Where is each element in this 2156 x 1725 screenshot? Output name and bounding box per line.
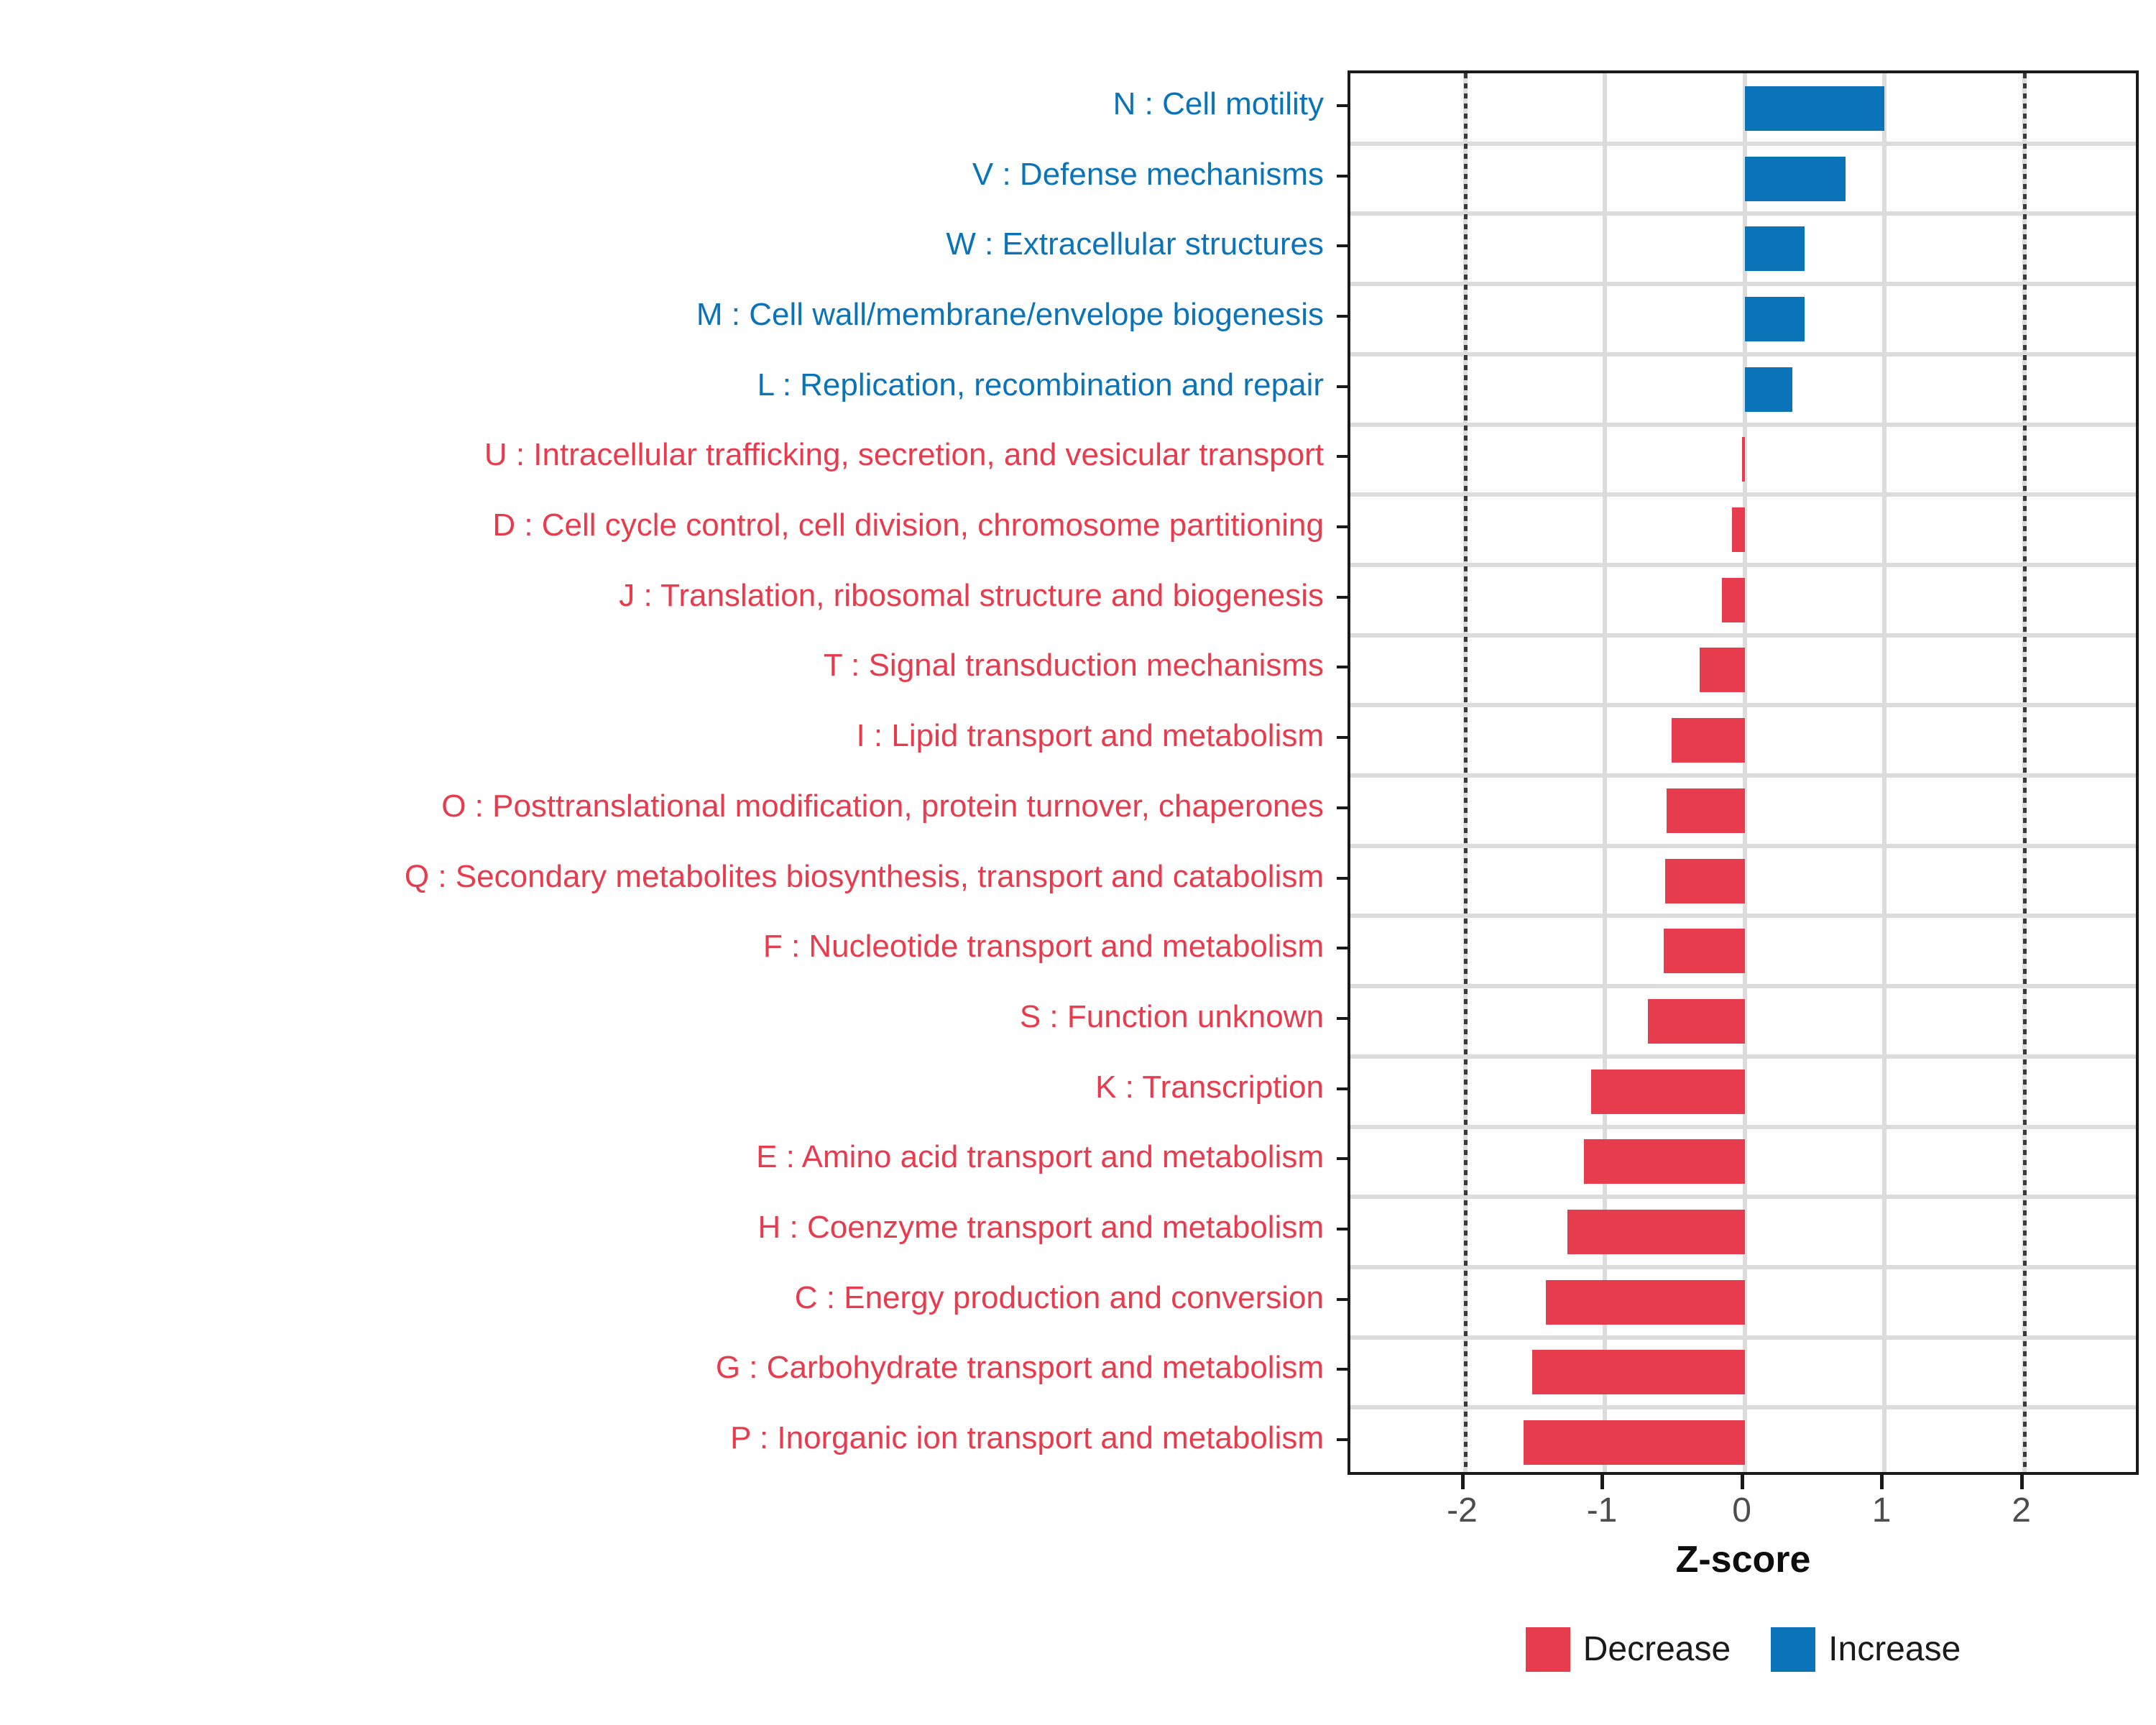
vertical-gridline xyxy=(1882,73,1886,1472)
reference-line xyxy=(2023,73,2027,1472)
bar[interactable] xyxy=(1667,788,1745,833)
plot-panel xyxy=(1347,70,2139,1475)
y-axis-label: S : Function unknown xyxy=(0,1001,1337,1033)
y-axis-label: C : Energy production and conversion xyxy=(0,1282,1337,1314)
y-axis-label: H : Coenzyme transport and metabolism xyxy=(0,1212,1337,1243)
y-axis-label: Q : Secondary metabolites biosynthesis, … xyxy=(0,861,1337,893)
x-axis-tick xyxy=(1741,1475,1744,1489)
y-axis-tick xyxy=(1337,244,1347,247)
bar[interactable] xyxy=(1532,1350,1745,1394)
bar[interactable] xyxy=(1591,1069,1745,1114)
y-axis-tick xyxy=(1337,877,1347,880)
y-axis-label: T : Signal transduction mechanisms xyxy=(0,650,1337,681)
bar[interactable] xyxy=(1524,1420,1744,1465)
legend-swatch-inc xyxy=(1771,1627,1815,1672)
bar[interactable] xyxy=(1745,297,1805,341)
y-axis-tick xyxy=(1337,596,1347,599)
x-axis-tick xyxy=(2020,1475,2024,1489)
bar[interactable] xyxy=(1665,859,1745,903)
x-axis-title: Z-score xyxy=(1347,1538,2139,1581)
bar[interactable] xyxy=(1745,86,1885,131)
x-axis-tick xyxy=(1880,1475,1884,1489)
y-axis-label: O : Posttranslational modification, prot… xyxy=(0,791,1337,822)
y-axis-label: J : Translation, ribosomal structure and… xyxy=(0,580,1337,612)
y-axis-tick xyxy=(1337,806,1347,809)
bar[interactable] xyxy=(1745,226,1805,271)
y-axis-tick xyxy=(1337,315,1347,318)
chart-legend: DecreaseIncrease xyxy=(1347,1621,2139,1678)
y-axis-label: M : Cell wall/membrane/envelope biogenes… xyxy=(0,299,1337,331)
y-axis-tick xyxy=(1337,1157,1347,1160)
y-axis-tick xyxy=(1337,1298,1347,1301)
x-axis-tick-label: 2 xyxy=(1978,1491,2065,1531)
y-axis-tick xyxy=(1337,385,1347,388)
bar[interactable] xyxy=(1732,507,1745,552)
y-axis-tick xyxy=(1337,666,1347,668)
y-axis-tick xyxy=(1337,1017,1347,1020)
y-axis-label: I : Lipid transport and metabolism xyxy=(0,720,1337,752)
y-axis-label: G : Carbohydrate transport and metabolis… xyxy=(0,1352,1337,1384)
bar[interactable] xyxy=(1584,1139,1745,1184)
y-axis-label: F : Nucleotide transport and metabolism xyxy=(0,931,1337,962)
bar[interactable] xyxy=(1664,929,1745,973)
y-axis-label: L : Replication, recombination and repai… xyxy=(0,369,1337,401)
y-axis-tick xyxy=(1337,736,1347,739)
legend-item-dec[interactable]: Decrease xyxy=(1526,1627,1731,1672)
bar[interactable] xyxy=(1742,437,1745,482)
y-axis-label: W : Extracellular structures xyxy=(0,229,1337,260)
bar[interactable] xyxy=(1672,718,1744,763)
x-axis-tick-label: 0 xyxy=(1699,1491,1785,1531)
x-axis-tick xyxy=(1600,1475,1604,1489)
vertical-gridline xyxy=(1743,73,1747,1472)
legend-label: Increase xyxy=(1828,1631,1961,1668)
bar[interactable] xyxy=(1567,1210,1745,1254)
y-axis-label: N : Cell motility xyxy=(0,88,1337,120)
bar[interactable] xyxy=(1745,157,1846,201)
bar[interactable] xyxy=(1546,1280,1744,1325)
y-axis-label: P : Inorganic ion transport and metaboli… xyxy=(0,1422,1337,1454)
y-axis-tick xyxy=(1337,1228,1347,1230)
y-axis-tick xyxy=(1337,1438,1347,1441)
y-axis-tick xyxy=(1337,1368,1347,1371)
y-axis-label: V : Defense mechanisms xyxy=(0,159,1337,190)
x-axis-tick-label: -2 xyxy=(1419,1491,1506,1531)
y-axis-label: U : Intracellular trafficking, secretion… xyxy=(0,439,1337,471)
y-axis-label: D : Cell cycle control, cell division, c… xyxy=(0,510,1337,541)
legend-swatch-dec xyxy=(1526,1627,1570,1672)
y-axis-tick xyxy=(1337,947,1347,949)
legend-label: Decrease xyxy=(1583,1631,1731,1668)
y-axis-category-labels: N : Cell motilityV : Defense mechanismsW… xyxy=(0,70,1337,1475)
bar[interactable] xyxy=(1745,367,1792,412)
y-axis-tick xyxy=(1337,455,1347,458)
x-axis-tick xyxy=(1461,1475,1465,1489)
reference-line xyxy=(1464,73,1468,1472)
y-axis-tick xyxy=(1337,175,1347,178)
y-axis-tick xyxy=(1337,104,1347,107)
x-axis-tick-label: 1 xyxy=(1838,1491,1925,1531)
bar[interactable] xyxy=(1722,578,1744,622)
bar[interactable] xyxy=(1648,999,1744,1044)
y-axis-tick xyxy=(1337,1087,1347,1090)
y-axis-label: E : Amino acid transport and metabolism xyxy=(0,1141,1337,1173)
x-axis-tick-label: -1 xyxy=(1559,1491,1645,1531)
legend-item-inc[interactable]: Increase xyxy=(1771,1627,1961,1672)
cog-zscore-bar-chart: N : Cell motilityV : Defense mechanismsW… xyxy=(0,0,2156,1725)
y-axis-tick xyxy=(1337,525,1347,528)
bar[interactable] xyxy=(1700,648,1744,692)
vertical-gridline xyxy=(1603,73,1607,1472)
y-axis-label: K : Transcription xyxy=(0,1072,1337,1103)
